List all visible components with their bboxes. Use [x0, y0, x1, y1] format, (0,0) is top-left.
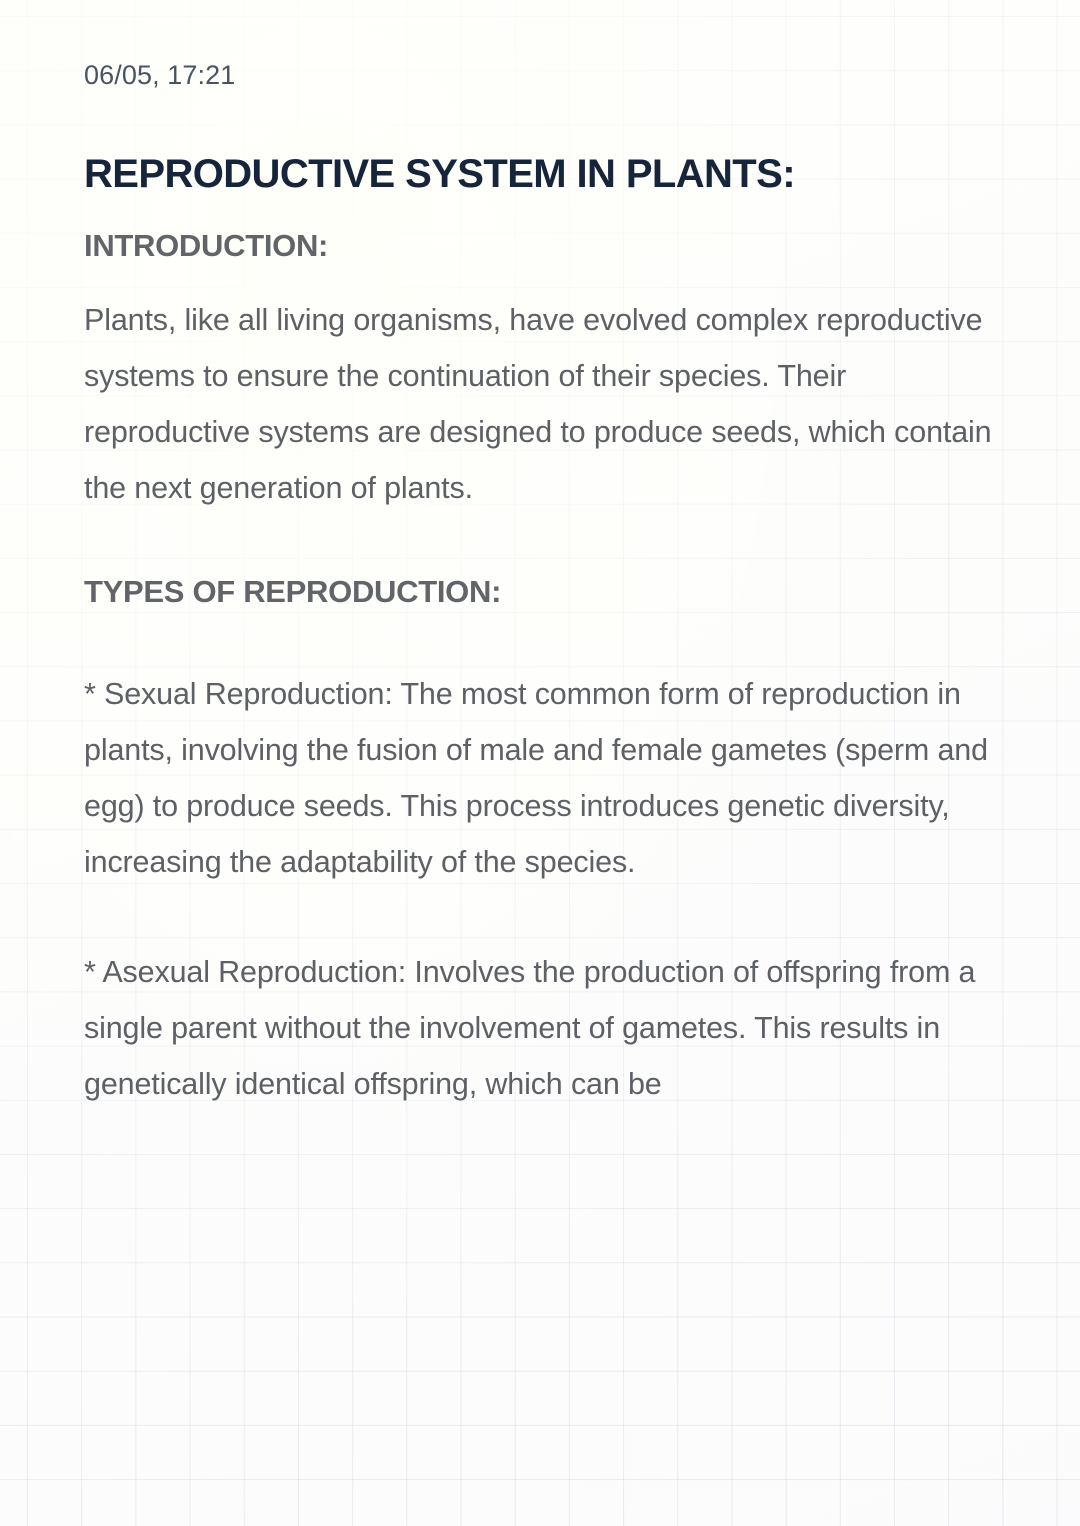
notebook-page: 06/05, 17:21 REPRODUCTIVE SYSTEM IN PLAN… — [0, 0, 1080, 1526]
introduction-paragraph: Plants, like all living organisms, have … — [84, 292, 992, 516]
timestamp: 06/05, 17:21 — [84, 58, 992, 92]
document-content: 06/05, 17:21 REPRODUCTIVE SYSTEM IN PLAN… — [84, 0, 992, 1142]
section-heading-types-of-reproduction: TYPES OF REPRODUCTION: — [84, 572, 992, 612]
section-heading-introduction: INTRODUCTION: — [84, 226, 992, 266]
asexual-reproduction-item: * Asexual Reproduction: Involves the pro… — [84, 944, 992, 1112]
sexual-reproduction-item: * Sexual Reproduction: The most common f… — [84, 666, 992, 890]
page-title: REPRODUCTIVE SYSTEM IN PLANTS: — [84, 150, 992, 198]
